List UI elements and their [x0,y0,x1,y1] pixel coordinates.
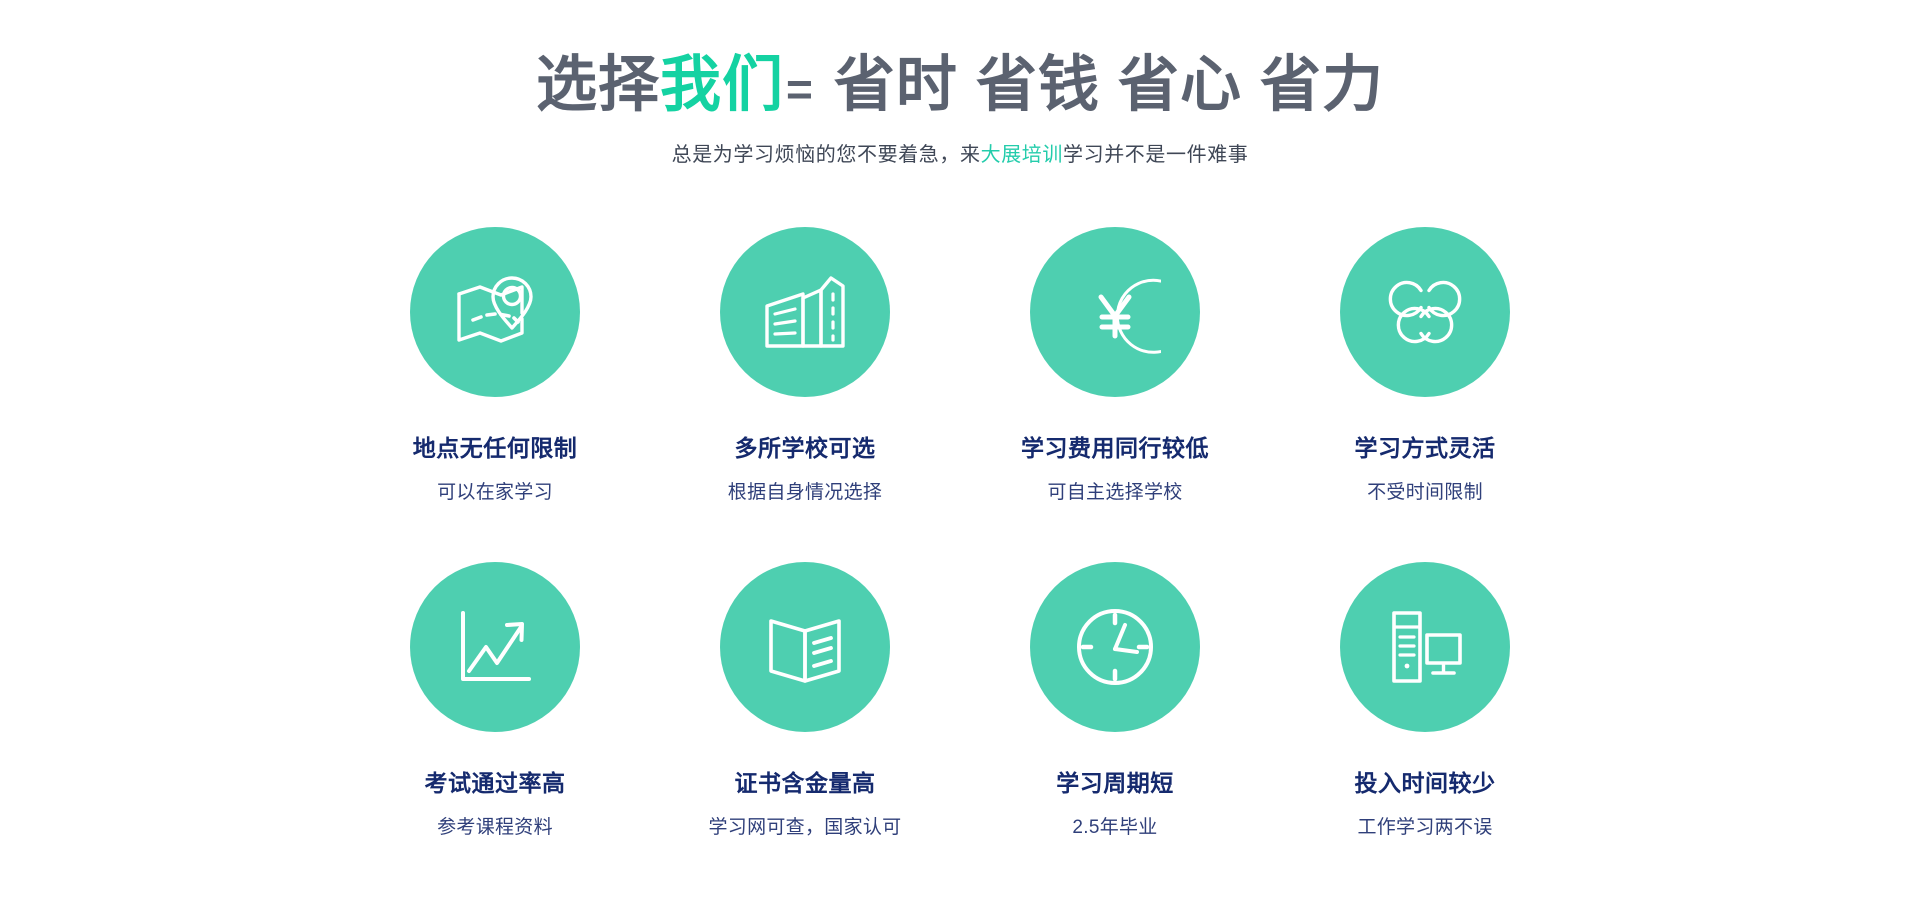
feature-title: 学习费用同行较低 [1021,429,1209,463]
feature-subtitle: 2.5年毕业 [1072,812,1157,839]
feature-subtitle: 根据自身情况选择 [728,477,882,504]
feature-item-tuition[interactable]: 学习费用同行较低 可自主选择学校 [960,227,1270,504]
promo-page: 选择我们=省时省钱省心省力 总是为学习烦恼的您不要着急，来大展培训学习并不是一件… [0,0,1920,912]
feature-title: 考试通过率高 [425,764,566,798]
feature-icon-circle [410,227,580,397]
headline-prefix: 选择 [536,50,660,118]
headline-equals-sign: = [784,63,816,115]
feature-icon-circle [1030,562,1200,732]
page-header: 选择我们=省时省钱省心省力 总是为学习烦恼的您不要着急，来大展培训学习并不是一件… [0,0,1920,167]
feature-item-location[interactable]: 地点无任何限制 可以在家学习 [340,227,650,504]
feature-subtitle: 参考课程资料 [437,812,553,839]
growth-chart-icon [449,601,541,693]
headline-highlight: 我们 [660,50,784,118]
feature-grid: 地点无任何限制 可以在家学习 [340,227,1580,839]
open-book-icon [759,601,851,693]
headline-benefit-3: 省心 [1118,50,1242,118]
feature-title: 证书含金量高 [735,764,876,798]
feature-item-passrate[interactable]: 考试通过率高 参考课程资料 [340,562,650,839]
feature-icon-circle [720,227,890,397]
feature-icon-circle [410,562,580,732]
feature-icon-circle [1340,227,1510,397]
feature-icon-circle [1340,562,1510,732]
subtitle-brand-name: 大展培训 [981,144,1063,166]
subtitle-suffix: 学习并不是一件难事 [1063,144,1248,166]
map-pin-icon [449,266,541,358]
feature-title: 投入时间较少 [1355,764,1496,798]
feature-title: 学习周期短 [1056,764,1174,798]
feature-subtitle: 可自主选择学校 [1047,477,1182,504]
feature-subtitle: 工作学习两不误 [1357,812,1492,839]
buildings-icon [759,266,851,358]
page-subtitle: 总是为学习烦恼的您不要着急，来大展培训学习并不是一件难事 [0,138,1920,167]
subtitle-prefix: 总是为学习烦恼的您不要着急，来 [672,144,981,166]
feature-item-certificate[interactable]: 证书含金量高 学习网可查，国家认可 [650,562,960,839]
desktop-pc-icon [1379,601,1471,693]
feature-item-timeinvest[interactable]: 投入时间较少 工作学习两不误 [1270,562,1580,839]
feature-icon-circle [1030,227,1200,397]
feature-item-duration[interactable]: 学习周期短 2.5年毕业 [960,562,1270,839]
feature-item-flexible[interactable]: 学习方式灵活 不受时间限制 [1270,227,1580,504]
feature-title: 地点无任何限制 [413,429,578,463]
feature-subtitle: 可以在家学习 [437,477,553,504]
clock-icon [1069,601,1161,693]
feature-icon-circle [720,562,890,732]
page-title: 选择我们=省时省钱省心省力 [0,54,1920,115]
feature-title: 学习方式灵活 [1355,429,1496,463]
headline-benefit-4: 省力 [1260,50,1384,118]
headline-benefit-2: 省钱 [976,50,1100,118]
headline-benefit-1: 省时 [834,50,958,118]
feature-item-schools[interactable]: 多所学校可选 根据自身情况选择 [650,227,960,504]
feature-subtitle: 不受时间限制 [1367,477,1483,504]
feature-title: 多所学校可选 [735,429,876,463]
yen-coin-icon [1069,266,1161,358]
feature-subtitle: 学习网可查，国家认可 [708,812,901,839]
four-circles-icon [1379,266,1471,358]
